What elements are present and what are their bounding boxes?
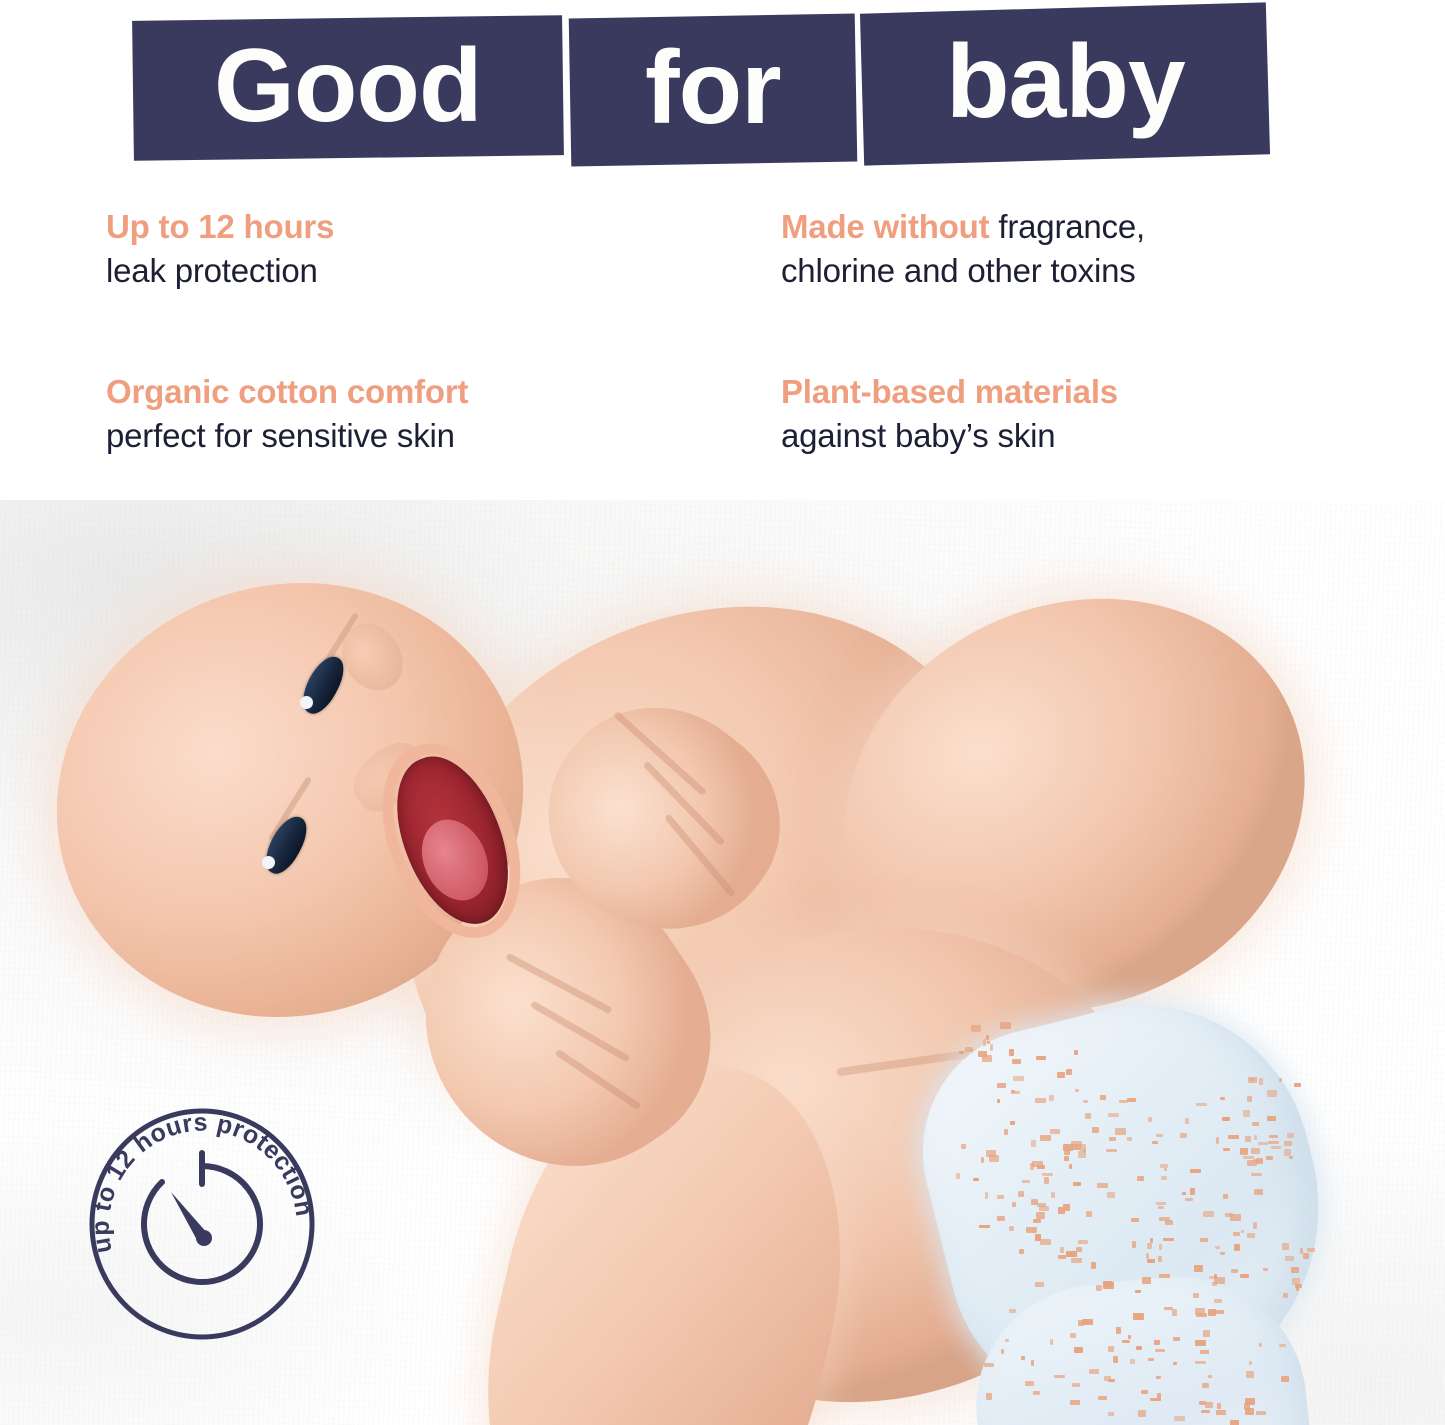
diaper-speckle bbox=[1220, 1097, 1225, 1100]
diaper-speckle bbox=[1025, 1381, 1034, 1386]
diaper-speckle bbox=[1033, 1219, 1041, 1223]
diaper-speckle bbox=[1156, 1202, 1166, 1205]
diaper-speckle bbox=[1258, 1142, 1268, 1145]
diaper-speckle bbox=[1163, 1238, 1174, 1241]
diaper-speckle bbox=[1199, 1401, 1206, 1405]
diaper-speckle bbox=[1266, 1156, 1273, 1160]
diaper-speckle bbox=[1132, 1241, 1136, 1248]
feature-list: Up to 12 hours leak protection Made with… bbox=[0, 205, 1445, 495]
diaper-speckle bbox=[1194, 1265, 1203, 1272]
diaper-speckle bbox=[1251, 1148, 1260, 1154]
diaper-speckle bbox=[1284, 1141, 1292, 1146]
diaper-speckle bbox=[1010, 1121, 1015, 1125]
diaper-speckle bbox=[1148, 1117, 1152, 1122]
feature-made-without: Made without fragrance, chlorine and oth… bbox=[781, 205, 1145, 293]
diaper-speckle bbox=[1203, 1211, 1214, 1217]
diaper-speckle bbox=[1141, 1390, 1148, 1394]
diaper-speckle bbox=[1106, 1149, 1117, 1152]
diaper-speckle bbox=[1208, 1375, 1212, 1378]
protection-badge-graphic: up to 12 hours protection bbox=[88, 1108, 316, 1340]
diaper-speckle bbox=[1240, 1274, 1249, 1278]
diaper-speckle bbox=[1214, 1299, 1222, 1303]
diaper-speckle bbox=[1156, 1376, 1161, 1379]
diaper-speckle bbox=[1138, 1410, 1146, 1417]
diaper-speckle bbox=[1174, 1416, 1185, 1421]
diaper-speckle bbox=[1044, 1177, 1049, 1184]
diaper-speckle bbox=[1071, 1258, 1082, 1263]
diaper-speckle bbox=[1064, 1148, 1070, 1155]
diaper-speckle bbox=[1223, 1194, 1228, 1199]
diaper-speckle bbox=[1271, 1146, 1281, 1149]
diaper-speckle bbox=[1241, 1230, 1244, 1233]
diaper-speckle bbox=[1108, 1113, 1119, 1117]
diaper-speckle bbox=[1185, 1198, 1193, 1201]
diaper-speckle bbox=[965, 1047, 973, 1052]
diaper-speckle bbox=[1063, 1204, 1070, 1211]
diaper-speckle bbox=[1133, 1313, 1144, 1320]
diaper-speckle bbox=[1268, 1141, 1279, 1144]
headline-word-for: for bbox=[645, 36, 781, 140]
diaper-speckle bbox=[1113, 1356, 1118, 1363]
diaper-speckle bbox=[1035, 1098, 1046, 1103]
diaper-speckle bbox=[1011, 1090, 1015, 1093]
diaper-speckle bbox=[1012, 1059, 1021, 1064]
diaper-speckle bbox=[1212, 1282, 1217, 1286]
diaper-speckle bbox=[1245, 1136, 1251, 1142]
baby-eye-highlight bbox=[300, 696, 313, 709]
headline-block-good: Good bbox=[132, 15, 564, 161]
diaper-speckle bbox=[1146, 1253, 1149, 1259]
diaper-speckle bbox=[1085, 1113, 1091, 1119]
diaper-speckle bbox=[986, 1035, 989, 1040]
diaper-speckle bbox=[1165, 1220, 1173, 1225]
diaper-speckle bbox=[1253, 1222, 1257, 1229]
diaper-speckle bbox=[1150, 1398, 1161, 1401]
diaper-speckle bbox=[1173, 1362, 1177, 1365]
diaper-speckle bbox=[983, 1039, 986, 1046]
diaper-speckle bbox=[987, 1041, 990, 1044]
diaper-speckle bbox=[985, 1192, 988, 1199]
diaper-speckle bbox=[1202, 1383, 1209, 1388]
diaper-speckle bbox=[1119, 1100, 1128, 1103]
diaper-speckle bbox=[1136, 1346, 1142, 1350]
diaper-speckle bbox=[1026, 1227, 1037, 1233]
diaper-speckle bbox=[1259, 1078, 1263, 1085]
diaper-speckle bbox=[1253, 1159, 1258, 1162]
diaper-speckle bbox=[1251, 1173, 1262, 1176]
diaper-speckle bbox=[1036, 1212, 1045, 1219]
diaper-speckle bbox=[1164, 1307, 1173, 1310]
diaper-speckle bbox=[1195, 1340, 1206, 1346]
diaper-speckle bbox=[1296, 1284, 1299, 1291]
diaper-speckle bbox=[1156, 1134, 1163, 1137]
diaper-speckle bbox=[1131, 1218, 1139, 1222]
diaper-speckle bbox=[1135, 1290, 1141, 1293]
feature-detail-organic-cotton: perfect for sensitive skin bbox=[106, 414, 468, 458]
diaper-speckle bbox=[1233, 1232, 1240, 1236]
diaper-speckle bbox=[1001, 1349, 1004, 1354]
diaper-speckle bbox=[1069, 1164, 1072, 1169]
diaper-speckle bbox=[1005, 1339, 1009, 1342]
diaper-speckle bbox=[1247, 1096, 1252, 1102]
diaper-speckle bbox=[1128, 1335, 1131, 1339]
diaper-speckle bbox=[1035, 1234, 1041, 1241]
feature-organic-cotton: Organic cotton comfort perfect for sensi… bbox=[106, 370, 468, 458]
diaper-speckle bbox=[1159, 1274, 1170, 1278]
diaper-speckle bbox=[1031, 1360, 1034, 1366]
diaper-speckle bbox=[1254, 1135, 1257, 1140]
diaper-speckle bbox=[1216, 1410, 1226, 1415]
diaper-speckle bbox=[1180, 1133, 1187, 1138]
diaper-speckle bbox=[1058, 1255, 1066, 1259]
diaper-speckle bbox=[1190, 1169, 1201, 1173]
diaper-speckle bbox=[1148, 1358, 1154, 1361]
diaper-speckle bbox=[1228, 1135, 1239, 1139]
diaper-speckle bbox=[1078, 1151, 1086, 1158]
diaper-speckle bbox=[1096, 1285, 1102, 1291]
diaper-speckle bbox=[997, 1099, 1000, 1103]
diaper-speckle bbox=[1066, 1251, 1077, 1257]
diaper-speckle bbox=[1247, 1233, 1255, 1238]
diaper-speckle bbox=[1164, 1168, 1167, 1171]
diaper-speckle bbox=[1004, 1129, 1008, 1135]
diaper-speckle bbox=[1243, 1110, 1250, 1117]
diaper-speckle bbox=[1108, 1379, 1115, 1382]
diaper-speckle bbox=[1281, 1376, 1289, 1382]
diaper-speckle bbox=[1147, 1243, 1152, 1249]
diaper-speckle bbox=[1066, 1069, 1072, 1075]
diaper-speckle bbox=[1279, 1078, 1282, 1082]
feature-detail-plant-based: against baby’s skin bbox=[781, 414, 1118, 458]
diaper-speckle bbox=[1078, 1240, 1088, 1244]
diaper-speckle bbox=[961, 1144, 966, 1149]
diaper-speckle bbox=[1097, 1183, 1108, 1188]
diaper-speckle bbox=[1254, 1189, 1263, 1195]
diaper-speckle bbox=[1248, 1077, 1257, 1083]
diaper-speckle bbox=[1289, 1156, 1293, 1159]
protection-badge: up to 12 hours protection bbox=[88, 1108, 316, 1340]
headline: Good for baby bbox=[0, 0, 1445, 185]
diaper-speckle bbox=[1172, 1309, 1177, 1316]
diaper-speckle bbox=[1115, 1128, 1126, 1135]
diaper-speckle bbox=[1033, 1391, 1040, 1395]
diaper-speckle bbox=[1193, 1293, 1199, 1298]
diaper-speckle bbox=[956, 1173, 960, 1179]
diaper-speckle bbox=[1267, 1090, 1277, 1097]
diaper-speckle bbox=[986, 1393, 992, 1400]
feature-headline-made-without: Made without fragrance, bbox=[781, 205, 1145, 249]
diaper-speckle bbox=[1009, 1309, 1016, 1313]
feature-highlight-leak: Up to 12 hours bbox=[106, 208, 334, 245]
diaper-speckle bbox=[1116, 1327, 1121, 1334]
diaper-speckle bbox=[1259, 1343, 1262, 1347]
diaper-speckle bbox=[1050, 1339, 1053, 1345]
diaper-speckle bbox=[1300, 1248, 1303, 1254]
diaper-speckle bbox=[1040, 1239, 1051, 1245]
headline-block-baby: baby bbox=[860, 2, 1270, 165]
diaper-speckle bbox=[1037, 1203, 1046, 1207]
diaper-speckle bbox=[1230, 1420, 1239, 1425]
diaper-speckle bbox=[1108, 1346, 1114, 1352]
diaper-speckle bbox=[1012, 1202, 1016, 1207]
baby-eye-highlight bbox=[262, 856, 275, 869]
diaper-speckle bbox=[1050, 1129, 1060, 1134]
diaper-speckle bbox=[1217, 1403, 1221, 1409]
diaper-speckle bbox=[1086, 1211, 1092, 1217]
diaper-speckle bbox=[1064, 1156, 1069, 1161]
diaper-speckle bbox=[1154, 1340, 1160, 1345]
diaper-speckle bbox=[1282, 1243, 1289, 1250]
diaper-speckle bbox=[1287, 1133, 1294, 1138]
diaper-speckle bbox=[1215, 1246, 1220, 1249]
feature-leak-protection: Up to 12 hours leak protection bbox=[106, 205, 334, 293]
diaper-speckle bbox=[1074, 1050, 1078, 1055]
diaper-speckle bbox=[1303, 1253, 1309, 1259]
diaper-speckle bbox=[1091, 1262, 1096, 1269]
diaper-speckle bbox=[1294, 1083, 1301, 1087]
diaper-speckle bbox=[1231, 1269, 1238, 1273]
diaper-speckle bbox=[1013, 1076, 1024, 1081]
diaper-speckle bbox=[1245, 1408, 1254, 1415]
diaper-speckle bbox=[1022, 1180, 1030, 1183]
diaper-speckle bbox=[1234, 1244, 1240, 1251]
diaper-speckle bbox=[1137, 1176, 1144, 1181]
diaper-speckle bbox=[1203, 1330, 1210, 1337]
diaper-speckle bbox=[1051, 1192, 1055, 1198]
diaper-speckle bbox=[997, 1083, 1006, 1088]
diaper-speckle bbox=[1208, 1309, 1216, 1316]
diaper-speckle bbox=[1225, 1213, 1233, 1217]
diaper-speckle bbox=[1158, 1256, 1162, 1262]
diaper-speckle bbox=[1108, 1412, 1114, 1416]
diaper-speckle bbox=[1103, 1282, 1114, 1289]
feature-highlight-made-without: Made without bbox=[781, 208, 989, 245]
diaper-speckle bbox=[1147, 1259, 1155, 1263]
diaper-speckle bbox=[997, 1195, 1004, 1199]
diaper-speckle bbox=[1083, 1100, 1088, 1103]
diaper-speckle bbox=[1009, 1049, 1014, 1056]
diaper-speckle bbox=[1223, 1148, 1230, 1151]
feature-plant-based: Plant-based materials against baby’s ski… bbox=[781, 370, 1118, 458]
diaper-speckle bbox=[971, 1025, 981, 1032]
diaper-speckle bbox=[1109, 1137, 1116, 1141]
diaper-speckle bbox=[1019, 1249, 1024, 1254]
diaper-speckle bbox=[1070, 1400, 1080, 1405]
feature-highlight-plant-based: Plant-based materials bbox=[781, 373, 1118, 410]
diaper-speckle bbox=[1205, 1402, 1213, 1408]
diaper-speckle bbox=[1035, 1282, 1044, 1287]
diaper-speckle bbox=[997, 1216, 1005, 1221]
diaper-speckle bbox=[1130, 1359, 1135, 1364]
diaper-speckle bbox=[1222, 1117, 1230, 1121]
diaper-speckle bbox=[1161, 1176, 1167, 1180]
diaper-speckle bbox=[1031, 1140, 1036, 1147]
diaper-speckle bbox=[1240, 1148, 1248, 1155]
clock-hub bbox=[196, 1230, 212, 1246]
diaper-speckle bbox=[1200, 1350, 1209, 1354]
diaper-speckle bbox=[1159, 1244, 1162, 1250]
diaper-speckle bbox=[1263, 1268, 1268, 1271]
diaper-speckle bbox=[1092, 1127, 1099, 1133]
diaper-speckle bbox=[1072, 1383, 1080, 1387]
diaper-speckle bbox=[1054, 1375, 1065, 1378]
diaper-speckle bbox=[1076, 1247, 1082, 1252]
feature-headline-organic-cotton: Organic cotton comfort bbox=[106, 370, 468, 414]
diaper-speckle bbox=[1127, 1098, 1136, 1102]
diaper-speckle bbox=[1152, 1141, 1158, 1144]
headline-block-for: for bbox=[569, 14, 858, 167]
diaper-speckle bbox=[979, 1225, 990, 1228]
diaper-speckle bbox=[1040, 1135, 1051, 1141]
good-for-baby-panel: Good for baby Up to 12 hours leak protec… bbox=[0, 0, 1445, 1425]
diaper-speckle bbox=[1220, 1252, 1225, 1255]
diaper-speckle bbox=[1075, 1089, 1079, 1092]
diaper-speckle bbox=[1078, 1320, 1084, 1326]
feature-detail-leak: leak protection bbox=[106, 249, 334, 293]
diaper-speckle bbox=[1158, 1206, 1164, 1209]
diaper-speckle bbox=[1182, 1192, 1186, 1195]
feature-headline-plant-based: Plant-based materials bbox=[781, 370, 1118, 414]
diaper-speckle bbox=[1098, 1396, 1107, 1400]
diaper-speckle bbox=[1307, 1248, 1315, 1252]
diaper-speckle bbox=[1252, 1122, 1259, 1126]
feature-headline-leak: Up to 12 hours bbox=[106, 205, 334, 249]
diaper-speckle bbox=[984, 1363, 994, 1367]
diaper-speckle bbox=[1246, 1371, 1254, 1378]
diaper-speckle bbox=[1200, 1238, 1208, 1242]
diaper-speckle bbox=[1127, 1137, 1132, 1141]
diaper-speckle bbox=[1049, 1095, 1054, 1101]
diaper-speckle bbox=[1256, 1411, 1266, 1415]
diaper-speckle bbox=[1009, 1226, 1014, 1231]
diaper-speckle bbox=[1018, 1191, 1024, 1197]
diaper-speckle bbox=[1201, 1410, 1210, 1413]
diaper-speckle bbox=[1279, 1344, 1286, 1347]
diaper-speckle bbox=[1122, 1340, 1130, 1343]
diaper-speckle bbox=[1142, 1277, 1151, 1284]
diaper-speckle bbox=[981, 1157, 984, 1163]
diaper-speckle bbox=[1071, 1141, 1082, 1146]
diaper-speckle bbox=[990, 1044, 993, 1051]
diaper-speckle bbox=[1249, 1361, 1252, 1365]
diaper-speckle bbox=[1284, 1149, 1291, 1156]
diaper-speckle bbox=[1195, 1361, 1206, 1364]
diaper-speckle bbox=[1100, 1095, 1106, 1100]
diaper-speckle bbox=[1196, 1313, 1207, 1317]
diaper-speckle bbox=[1000, 1022, 1011, 1029]
diaper-speckle bbox=[959, 1051, 964, 1054]
diaper-speckle bbox=[1074, 1347, 1083, 1353]
diaper-speckle bbox=[1267, 1116, 1276, 1121]
diaper-speckle bbox=[1196, 1103, 1207, 1106]
diaper-speckle bbox=[1042, 1173, 1053, 1176]
feature-detail-made-without: chlorine and other toxins bbox=[781, 249, 1145, 293]
diaper-speckle bbox=[1173, 1337, 1180, 1341]
diaper-speckle bbox=[1285, 1256, 1294, 1261]
diaper-speckle bbox=[986, 1150, 996, 1157]
feature-rest-made-without: fragrance, bbox=[989, 208, 1145, 245]
diaper-speckle bbox=[1073, 1182, 1081, 1186]
diaper-speckle bbox=[1107, 1192, 1115, 1198]
diaper-speckle bbox=[1037, 1165, 1045, 1169]
diaper-speckle bbox=[978, 1051, 987, 1057]
diaper-speckle bbox=[1036, 1056, 1046, 1060]
feature-highlight-organic-cotton: Organic cotton comfort bbox=[106, 373, 468, 410]
diaper-speckle bbox=[1185, 1118, 1189, 1124]
headline-word-baby: baby bbox=[946, 30, 1185, 134]
diaper-speckle bbox=[1269, 1135, 1278, 1138]
diaper-speckle bbox=[1216, 1137, 1219, 1144]
headline-word-good: Good bbox=[214, 34, 481, 138]
diaper-speckle bbox=[1070, 1333, 1076, 1338]
diaper-speckle bbox=[973, 1178, 979, 1181]
diaper-speckle bbox=[1089, 1369, 1099, 1374]
diaper-speckle bbox=[1155, 1349, 1165, 1352]
diaper-speckle bbox=[1190, 1188, 1195, 1195]
diaper-speckle bbox=[1283, 1293, 1288, 1298]
diaper-speckle bbox=[1291, 1267, 1299, 1273]
diaper-speckle bbox=[1060, 1247, 1064, 1253]
diaper-speckle bbox=[1021, 1356, 1025, 1360]
diaper-speckle bbox=[1057, 1072, 1065, 1078]
